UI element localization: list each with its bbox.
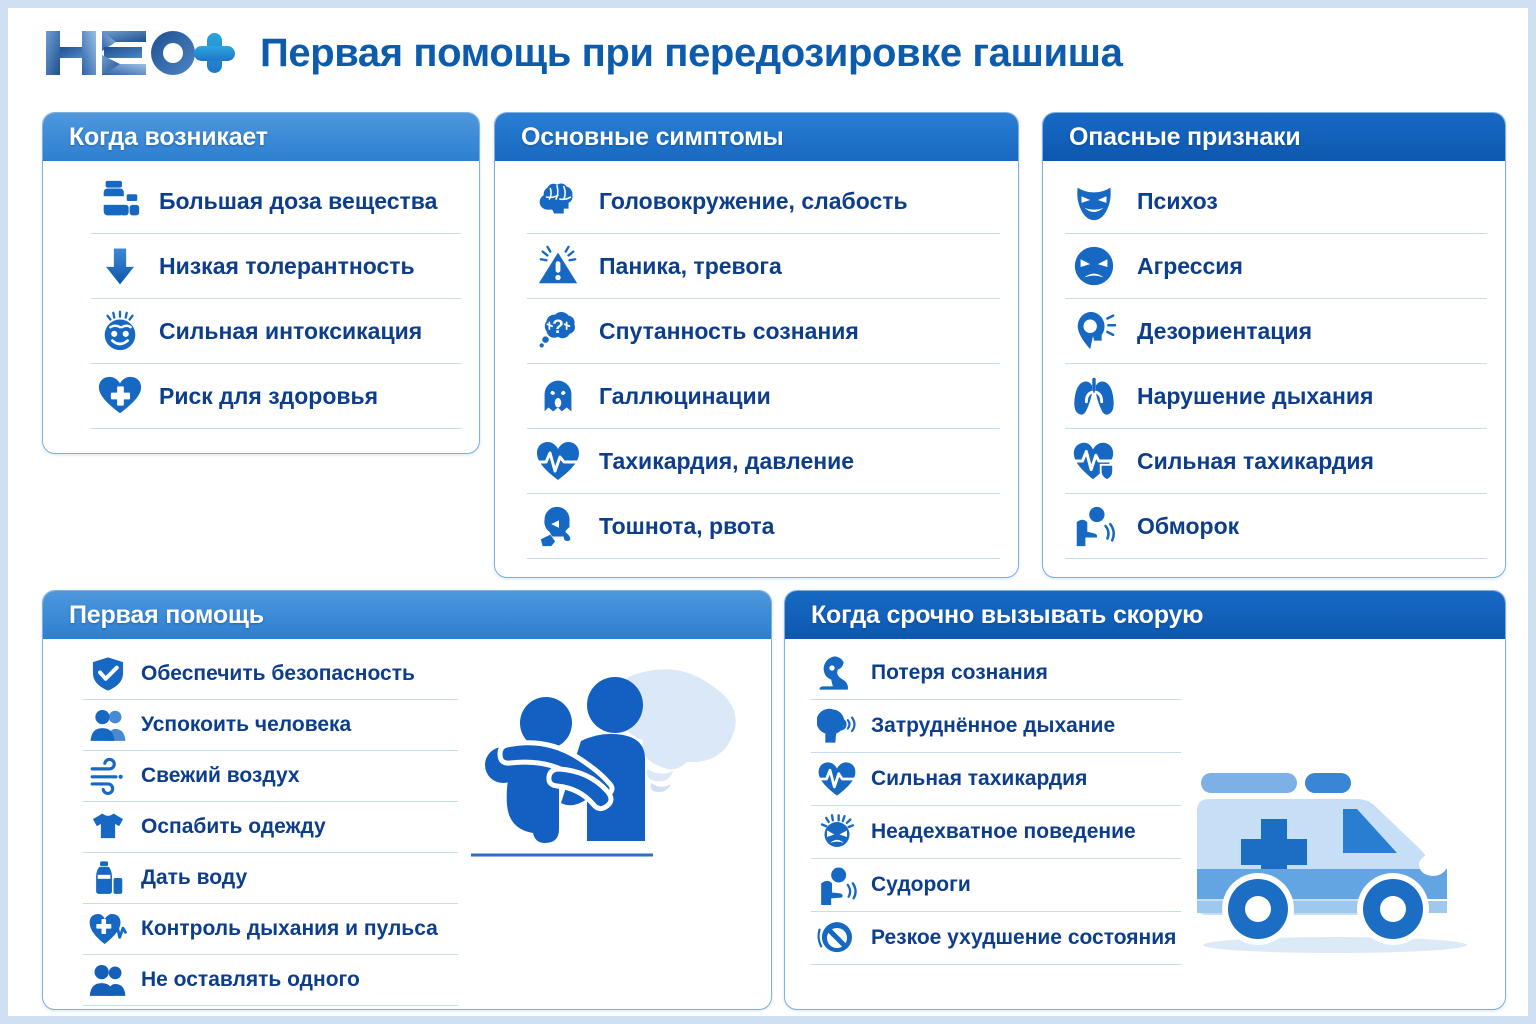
evil-mask-icon — [1065, 178, 1123, 224]
heart-pulse-icon — [811, 758, 863, 800]
declining-state-icon — [811, 918, 863, 958]
svg-text:?: ? — [552, 317, 564, 338]
list-item[interactable]: Нарушение дыхания — [1065, 364, 1487, 429]
list-item[interactable]: Риск для здоровья — [91, 364, 461, 429]
thought-question-icon: ? — [527, 308, 589, 354]
list-item[interactable]: Тахикардия, давление — [527, 429, 1000, 494]
fainting-person-icon — [1065, 503, 1123, 549]
list-item-label: Психоз — [1137, 189, 1218, 213]
list-item[interactable]: Дезориентация — [1065, 299, 1487, 364]
lungs-icon — [1065, 373, 1123, 419]
angry-face-icon — [1065, 243, 1123, 289]
neo-plus-logo-icon — [42, 25, 238, 81]
list-item-label: Сильная тахикардия — [871, 768, 1087, 790]
list-item-label: Успокоить человека — [141, 714, 351, 736]
list-item[interactable]: Психоз — [1065, 169, 1487, 234]
list-item[interactable]: Обморок — [1065, 494, 1487, 559]
card-danger-title: Опасные признаки — [1043, 113, 1505, 161]
list-item[interactable]: Обеспечить безопасность — [83, 649, 458, 700]
header: Первая помощь при передозировке гашиша — [8, 8, 1528, 98]
card-danger: Опасные признаки Психоз — [1042, 112, 1506, 578]
list-item-label: Спутанность сознания — [599, 319, 859, 343]
infographic-page: Первая помощь при передозировке гашиша К… — [8, 8, 1528, 1016]
list-item-label: Резкое ухудшение состояния — [871, 927, 1176, 949]
list-item-label: Обеспечить безопасность — [141, 663, 415, 685]
list-item-label: Головокружение, слабость — [599, 189, 908, 213]
list-item[interactable]: Резкое ухудшение состояния — [811, 912, 1181, 965]
pill-bottle-icon — [91, 178, 149, 224]
warning-triangle-icon — [527, 243, 589, 289]
brain-head-icon — [527, 178, 589, 224]
unconscious-person-icon — [811, 653, 863, 693]
list-item-label: Затруднённое дыхание — [871, 715, 1115, 737]
list-item-label: Низкая толерантность — [159, 254, 415, 278]
list-item-label: Нарушение дыхания — [1137, 384, 1373, 408]
page-title: Первая помощь при передозировке гашиша — [260, 31, 1122, 76]
list-item[interactable]: Контроль дыхания и пульса — [83, 904, 458, 955]
card-aid-title: Первая помощь — [43, 591, 771, 639]
vomiting-head-icon — [527, 503, 589, 549]
agitated-face-icon — [811, 812, 863, 852]
list-item-label: Свежий воздух — [141, 765, 300, 787]
list-item-label: Потеря сознания — [871, 662, 1048, 684]
two-people-icon — [83, 706, 133, 744]
list-item-label: Тахикардия, давление — [599, 449, 854, 473]
list-item-label: Дать воду — [141, 867, 247, 889]
list-item[interactable]: Сильная интоксикация — [91, 299, 461, 364]
heart-cross-icon — [91, 373, 149, 419]
list-item[interactable]: Затруднённое дыхание — [811, 700, 1181, 753]
heart-cross-pulse-icon — [83, 909, 133, 949]
list-item[interactable]: Неадехватное поведение — [811, 806, 1181, 859]
list-item[interactable]: Агрессия — [1065, 234, 1487, 299]
card-onset: Когда возникает Большая доза вещества — [42, 112, 480, 454]
card-emergency-title: Когда срочно вызывать скорую — [785, 591, 1505, 639]
list-item-label: Галлюцинации — [599, 384, 771, 408]
down-arrow-icon — [91, 245, 149, 287]
list-item-label: Паника, тревога — [599, 254, 782, 278]
list-item-label: Контроль дыхания и пульса — [141, 918, 438, 940]
list-item[interactable]: Низкая толерантность — [91, 234, 461, 299]
list-item-label: Судороги — [871, 874, 971, 896]
list-item-label: Не оставлять одного — [141, 969, 360, 991]
list-item-label: Сильная тахикардия — [1137, 449, 1374, 473]
list-item[interactable]: Оспабить одежду — [83, 802, 458, 853]
list-item-label: Риск для здоровья — [159, 384, 378, 408]
card-onset-title: Когда возникает — [43, 113, 479, 161]
two-people-dark-icon — [83, 961, 133, 999]
breathing-difficulty-icon — [811, 706, 863, 746]
two-people-supporting-illustration — [463, 659, 763, 909]
list-item[interactable]: Сильная тахикардия — [1065, 429, 1487, 494]
wind-icon — [83, 757, 133, 795]
list-item[interactable]: Большая доза вещества — [91, 169, 461, 234]
shield-check-icon — [83, 655, 133, 693]
list-item[interactable]: Паника, тревога — [527, 234, 1000, 299]
list-item[interactable]: Судороги — [811, 859, 1181, 912]
card-symptoms: Основные симптомы Головокружение, слабос… — [494, 112, 1019, 578]
list-item-label: Неадехватное поведение — [871, 821, 1136, 843]
list-item[interactable]: Тошнота, рвота — [527, 494, 1000, 559]
heart-pulse-shield-icon — [1065, 438, 1123, 484]
list-item[interactable]: Головокружение, слабость — [527, 169, 1000, 234]
list-item[interactable]: Сильная тахикардия — [811, 753, 1181, 806]
dizzy-face-icon — [91, 308, 149, 354]
heart-pulse-icon — [527, 437, 589, 485]
card-symptoms-title: Основные симптомы — [495, 113, 1018, 161]
list-item[interactable]: ? Спутанность сознания — [527, 299, 1000, 364]
ambulance-illustration — [1175, 749, 1495, 969]
ghost-icon — [527, 373, 589, 419]
card-aid: Первая помощь Обеспечить безопасность — [42, 590, 772, 1010]
list-item-label: Сильная интоксикация — [159, 319, 422, 343]
list-item[interactable]: Галлюцинации — [527, 364, 1000, 429]
list-item[interactable]: Не оставлять одного — [83, 955, 458, 1006]
list-item-label: Большая доза вещества — [159, 189, 437, 213]
list-item-label: Оспабить одежду — [141, 816, 326, 838]
list-item[interactable]: Дать воду — [83, 853, 458, 904]
tshirt-icon — [83, 808, 133, 846]
list-item-label: Агрессия — [1137, 254, 1243, 278]
list-item[interactable]: Свежий воздух — [83, 751, 458, 802]
card-emergency: Когда срочно вызывать скорую Потеря созн… — [784, 590, 1506, 1010]
list-item-label: Дезориентация — [1137, 319, 1312, 343]
water-bottle-icon — [83, 859, 133, 897]
list-item-label: Обморок — [1137, 514, 1239, 538]
list-item-label: Тошнота, рвота — [599, 514, 774, 538]
location-head-icon — [1065, 308, 1123, 354]
list-item[interactable]: Успокоить человека — [83, 700, 458, 751]
list-item[interactable]: Потеря сознания — [811, 647, 1181, 700]
seizure-person-icon — [811, 865, 863, 905]
